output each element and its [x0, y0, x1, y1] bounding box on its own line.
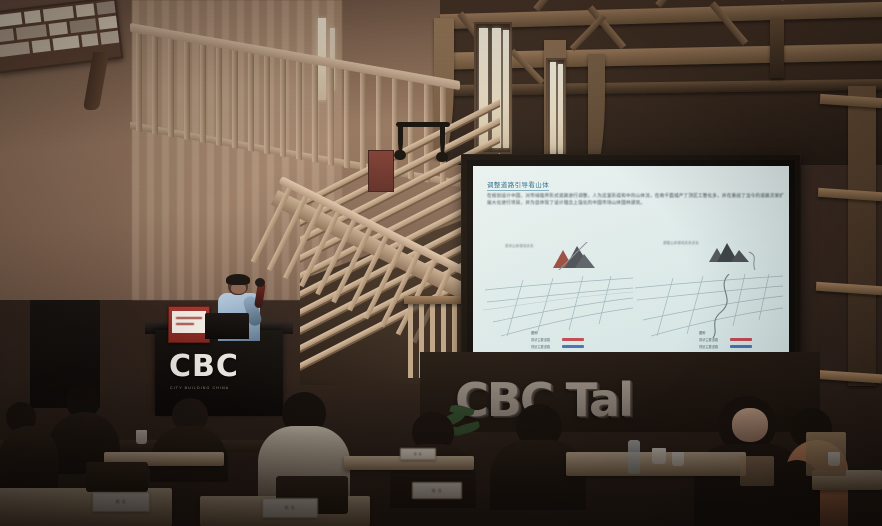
audience-member: [0, 402, 58, 488]
right-timber-post: [848, 86, 876, 386]
lattice-cell: [69, 18, 96, 33]
baluster: [264, 56, 270, 155]
legend-row: 现状主要道路: [699, 337, 752, 342]
legend-swatch-road-existing: [562, 338, 584, 342]
legend-label: 规划主要道路: [531, 344, 557, 349]
podium-laptop: [205, 313, 249, 339]
lattice-cell: [0, 42, 30, 58]
podium-logo-text: CBC: [169, 352, 239, 382]
podium-sublogo-text: CITY BUILDING CHINA: [170, 386, 229, 390]
stair-baluster: [347, 236, 388, 312]
legend-title: 图例: [531, 330, 584, 335]
presenter-hair: [226, 274, 250, 285]
legend-title: 图例: [699, 330, 752, 335]
legend-row: 规划主要道路: [531, 344, 584, 349]
slide-left-caption: 现状山体视线关系: [505, 243, 534, 248]
vertical-post-right: [770, 18, 784, 78]
lattice-cell: [96, 1, 115, 15]
window-pane-d: [550, 62, 556, 154]
wooden-chair: [806, 432, 846, 476]
lattice-cell: [16, 24, 47, 40]
baluster: [280, 58, 286, 157]
baluster: [216, 47, 222, 146]
legend-row: 规划主要道路: [699, 344, 752, 349]
mountain-graphic-right: [707, 240, 759, 270]
audience-face: [732, 408, 768, 442]
stair-baluster: [331, 228, 372, 304]
mountain-graphic-left: [551, 242, 597, 270]
microphone-head: [255, 278, 265, 287]
chair-back: [86, 462, 148, 492]
site-plan-grid-left: [483, 276, 635, 338]
lamp-finial-right: [436, 152, 448, 162]
baluster: [168, 39, 174, 138]
placard-line: [176, 323, 194, 325]
baluster: [184, 41, 190, 140]
lattice-cell: [52, 35, 79, 50]
stair-baluster: [267, 196, 308, 272]
truss-diagonal-6: [777, 0, 816, 2]
paper-cup: [652, 448, 666, 464]
projected-slide: 调整道路引导看山体 在规划设计中国，对市域临界形式道路进行调整，人为这里形成和中…: [473, 166, 789, 366]
legend-swatch-road-existing: [730, 338, 752, 342]
audience-member: [150, 398, 228, 478]
lattice-cell: [81, 33, 98, 47]
lattice-cell: [98, 16, 117, 30]
pillar-red-sign: [368, 150, 394, 192]
water-bottle: [628, 440, 640, 474]
legend-row: 现状主要道路: [531, 337, 584, 342]
name-placard: 姓 名: [262, 498, 318, 518]
lattice-cell: [0, 12, 22, 27]
wall-lamp-bracket: [396, 118, 452, 164]
red-event-placard: [168, 306, 210, 343]
window-frame-center: [546, 58, 566, 158]
legend-label: 规划主要道路: [699, 344, 725, 349]
paper-cup: [828, 452, 840, 466]
placard-line: [176, 317, 202, 319]
legend-swatch-road-planned: [562, 345, 584, 349]
wooden-chair: [740, 456, 774, 486]
lattice-cell: [43, 6, 74, 22]
projection-screen-frame: 调整道路引导看山体 在规划设计中国，对市域临界形式道路进行调整，人为这里形成和中…: [462, 155, 800, 377]
lamp-finial-left: [394, 150, 406, 160]
slide-title: 调整道路引导看山体: [487, 179, 549, 191]
stair-baluster: [283, 204, 324, 280]
baluster: [136, 33, 142, 132]
paper-cup: [136, 430, 147, 444]
baluster: [312, 64, 318, 163]
slide-body-text: 在规划设计中国，对市域临界形式道路进行调整，人为这里形成和中的山体流，在南千面城…: [487, 192, 787, 206]
baluster: [248, 53, 254, 152]
stair-baluster: [299, 212, 340, 288]
audience-body: [0, 426, 58, 488]
stair-baluster: [364, 244, 405, 320]
baluster: [344, 70, 350, 169]
slide-right-caption: 调整山体视线关系优化: [663, 240, 699, 245]
paper-cup: [672, 452, 684, 466]
legend-swatch-road-planned: [730, 345, 752, 349]
lattice-cell: [76, 3, 95, 17]
window-pane-c: [503, 30, 509, 148]
baluster: [232, 50, 238, 149]
name-placard: 姓 名: [400, 448, 436, 460]
legend-label: 现状主要道路: [699, 337, 725, 342]
lattice-cell: [49, 22, 68, 36]
baluster: [328, 67, 334, 166]
baluster: [200, 44, 206, 143]
baluster: [360, 72, 366, 171]
lattice-cell: [0, 28, 14, 42]
stair-baluster: [315, 220, 356, 296]
lattice-cell: [32, 39, 51, 53]
placard-paper: [172, 311, 206, 333]
name-placard: 姓 名: [92, 492, 150, 512]
lattice-cell: [24, 10, 41, 24]
lattice-cell: [100, 31, 119, 45]
window-pane-e: [558, 64, 563, 154]
legend-label: 现状主要道路: [531, 337, 557, 342]
conference-photo-scene: 调整道路引导看山体 在规划设计中国，对市域临界形式道路进行调整，人为这里形成和中…: [0, 0, 882, 526]
site-plan-grid-right: [633, 274, 785, 338]
baluster: [152, 36, 158, 135]
baluster: [296, 61, 302, 160]
name-placard: 姓 名: [412, 482, 462, 499]
